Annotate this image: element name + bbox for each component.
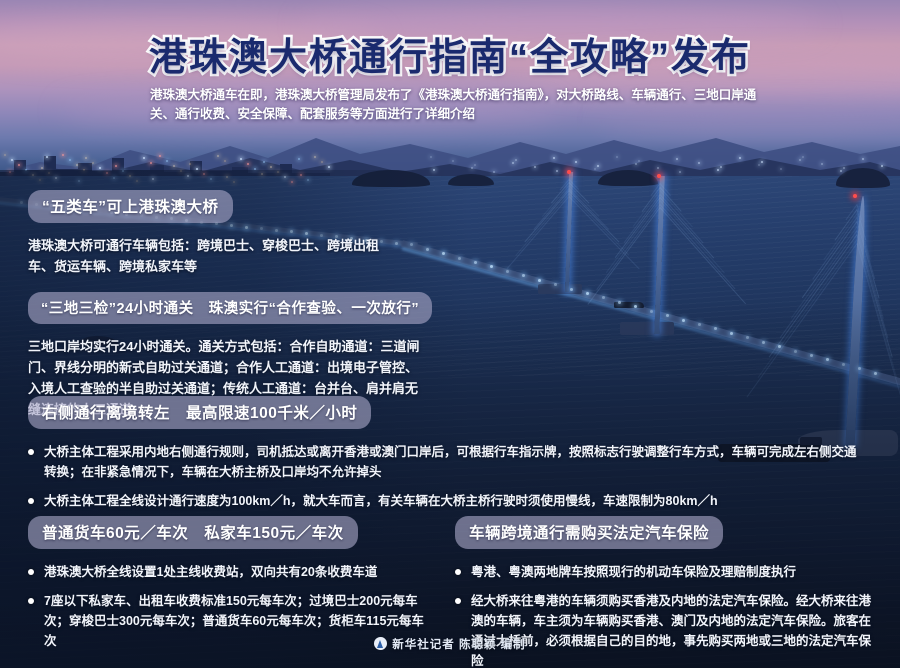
list-item: 经大桥来往粤港的车辆须购买香港及内地的法定汽车保险。经大桥来往港澳的车辆，车主须… [455, 591, 883, 668]
list-item: 粤港、粤澳两地牌车按照现行的机动车保险及理赔制度执行 [455, 562, 883, 582]
bullet-dot-icon [28, 449, 34, 455]
section-block-tolls: 普通货车60元／车次 私家车150元／车次 港珠澳大桥全线设置1处主线收费站，双… [28, 516, 438, 651]
section-paragraph: 港珠澳大桥可通行车辆包括：跨境巴士、穿梭巴士、跨境出租车、货运车辆、跨境私家车等 [28, 235, 390, 277]
section-heading: “五类车”可上港珠澳大桥 [28, 190, 233, 223]
bullet-list: 粤港、粤澳两地牌车按照现行的机动车保险及理赔制度执行 经大桥来往粤港的车辆须购买… [455, 562, 883, 668]
section-heading: “三地三检”24小时通关 珠澳实行“合作查验、一次放行” [28, 292, 432, 324]
bullet-dot-icon [455, 598, 461, 604]
xinhua-logo-icon [374, 637, 387, 650]
bullet-dot-icon [455, 569, 461, 575]
section-block-vehicle-types: “五类车”可上港珠澳大桥 港珠澳大桥可通行车辆包括：跨境巴士、穿梭巴士、跨境出租… [28, 190, 428, 277]
list-item: 港珠澳大桥全线设置1处主线收费站，双向共有20条收费车道 [28, 562, 430, 582]
list-item-text: 大桥主体工程采用内地右侧通行规则，司机抵达或离开香港或澳门口岸后，可根据行车指示… [44, 445, 857, 479]
section-block-driving-rules: 右侧通行离境转左 最高限速100千米／小时 大桥主体工程采用内地右侧通行规则，司… [28, 396, 888, 511]
list-item: 大桥主体工程全线设计通行速度为100km／h，就大车而言，有关车辆在大桥主桥行驶… [28, 491, 868, 511]
page-title: 港珠澳大桥通行指南“全攻略”发布 [0, 26, 900, 81]
infographic-poster: 港珠澳大桥通行指南“全攻略”发布 港珠澳大桥通车在即，港珠澳大桥管理局发布了《港… [0, 0, 900, 668]
poster-content: 港珠澳大桥通行指南“全攻略”发布 港珠澳大桥通车在即，港珠澳大桥管理局发布了《港… [0, 0, 900, 668]
credit-text: 新华社记者 陈聪颖 编制 [392, 636, 525, 652]
page-subtitle: 港珠澳大桥通车在即，港珠澳大桥管理局发布了《港珠澳大桥通行指南》，对大桥路线、车… [150, 86, 770, 124]
list-item-text: 粤港、粤澳两地牌车按照现行的机动车保险及理赔制度执行 [471, 565, 796, 579]
bullet-dot-icon [28, 569, 34, 575]
section-heading: 普通货车60元／车次 私家车150元／车次 [28, 516, 358, 549]
list-item-text: 港珠澳大桥全线设置1处主线收费站，双向共有20条收费车道 [44, 565, 377, 579]
bullet-dot-icon [28, 598, 34, 604]
list-item-text: 大桥主体工程全线设计通行速度为100km／h，就大车而言，有关车辆在大桥主桥行驶… [44, 494, 718, 508]
bullet-dot-icon [28, 498, 34, 504]
bullet-list: 大桥主体工程采用内地右侧通行规则，司机抵达或离开香港或澳门口岸后，可根据行车指示… [28, 442, 868, 511]
section-heading: 车辆跨境通行需购买法定汽车保险 [455, 516, 723, 549]
credit-line: 新华社记者 陈聪颖 编制 [0, 636, 900, 652]
list-item: 大桥主体工程采用内地右侧通行规则，司机抵达或离开香港或澳门口岸后，可根据行车指示… [28, 442, 868, 482]
list-item-text: 经大桥来往粤港的车辆须购买香港及内地的法定汽车保险。经大桥来往港澳的车辆，车主须… [471, 594, 871, 668]
section-heading: 右侧通行离境转左 最高限速100千米／小时 [28, 396, 371, 429]
